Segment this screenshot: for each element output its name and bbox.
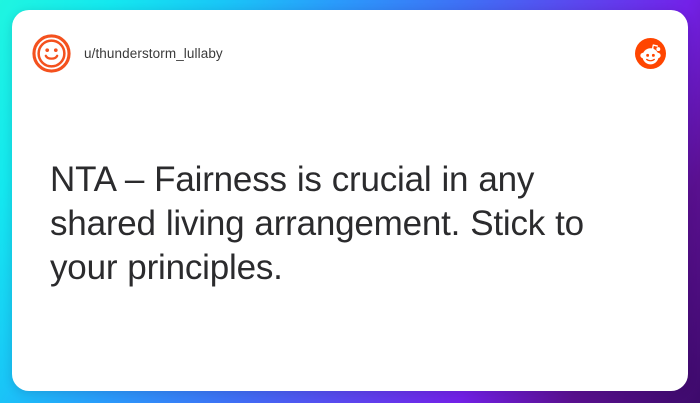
post-body: NTA – Fairness is crucial in any shared …: [50, 158, 648, 290]
post-header: u/thunderstorm_lullaby: [12, 10, 688, 96]
smiley-face-avatar-icon[interactable]: [32, 34, 71, 73]
screenshot-root: u/thunderstorm_lullaby NTA – Fairness is…: [0, 0, 700, 403]
reddit-snoo-icon[interactable]: [635, 38, 666, 69]
username-label: u/thunderstorm_lullaby: [84, 46, 223, 61]
reddit-post-card: u/thunderstorm_lullaby NTA – Fairness is…: [12, 10, 688, 391]
post-text: NTA – Fairness is crucial in any shared …: [50, 158, 648, 290]
